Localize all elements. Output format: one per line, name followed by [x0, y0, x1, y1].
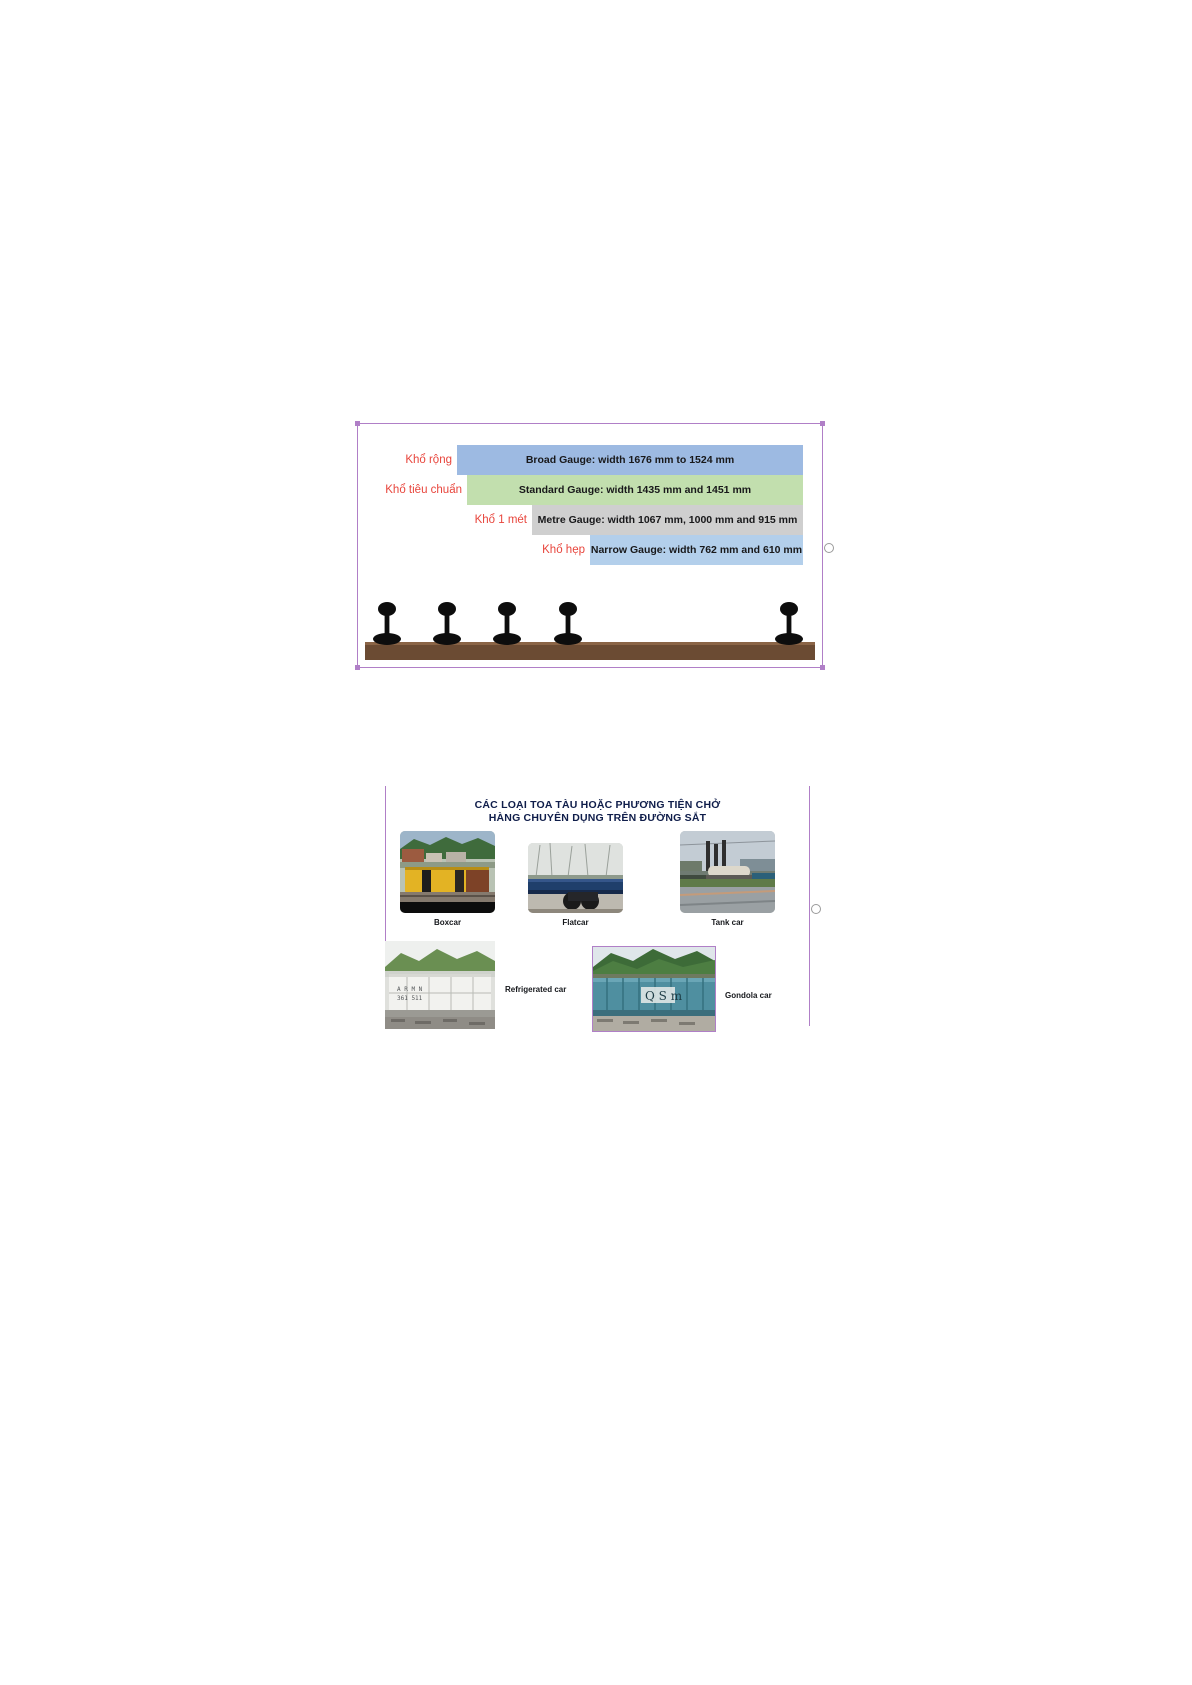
- cars-rotate-handle[interactable]: [811, 904, 821, 914]
- ballast-top-edge: [365, 642, 815, 645]
- resize-handle-bottom-right[interactable]: [820, 665, 825, 670]
- gauge-vn-label-metre: Khổ 1 mét: [357, 514, 532, 526]
- gauge-bar-metre: Metre Gauge: width 1067 mm, 1000 mm and …: [532, 505, 803, 535]
- car-cell-tankcar[interactable]: Tank car: [680, 831, 775, 927]
- gauge-vn-label-broad: Khổ rộng: [357, 454, 457, 466]
- refrigerated-car-photo: A R M N 361 511: [385, 941, 495, 1029]
- car-label-tankcar: Tank car: [680, 918, 775, 927]
- freight-car-types-figure[interactable]: CÁC LOẠI TOA TÀU HOẶC PHƯƠNG TIỆN CHỞ HÀ…: [385, 786, 810, 1026]
- rail-profile-4: [554, 602, 582, 645]
- gauge-row-broad[interactable]: Khổ rộng Broad Gauge: width 1676 mm to 1…: [357, 445, 823, 475]
- gauge-vn-label-narrow: Khổ hẹp: [357, 544, 590, 556]
- resize-handle-bottom-left[interactable]: [355, 665, 360, 670]
- resize-handle-top-right[interactable]: [820, 421, 825, 426]
- car-cell-refrigerated[interactable]: A R M N 361 511: [385, 941, 495, 1029]
- gauge-vn-label-standard: Khổ tiêu chuẩn: [357, 484, 467, 496]
- svg-text:361 511: 361 511: [397, 995, 423, 1002]
- flatcar-photo: [528, 843, 623, 913]
- car-cell-boxcar[interactable]: Boxcar: [400, 831, 495, 927]
- gauge-bar-narrow: Narrow Gauge: width 762 mm and 610 mm: [590, 535, 803, 565]
- cars-row-1: Boxcar: [385, 831, 810, 937]
- selection-border-bottom: [357, 667, 823, 668]
- car-label-gondola: Gondola car: [725, 991, 772, 1000]
- cars-row-2: A R M N 361 511 Refrigerated car: [385, 941, 810, 1037]
- car-label-refrigerated: Refrigerated car: [505, 985, 566, 994]
- rail-profile-3: [493, 602, 521, 645]
- car-cell-flatcar[interactable]: Flatcar: [528, 843, 623, 927]
- gauge-bar-standard: Standard Gauge: width 1435 mm and 1451 m…: [467, 475, 803, 505]
- boxcar-photo: [400, 831, 495, 913]
- svg-text:A R M N: A R M N: [397, 986, 423, 993]
- cars-title-line-1: CÁC LOẠI TOA TÀU HOẶC PHƯƠNG TIỆN CHỞ: [431, 799, 764, 812]
- track-cross-section-art: [365, 592, 815, 660]
- gauge-row-metre[interactable]: Khổ 1 mét Metre Gauge: width 1067 mm, 10…: [357, 505, 823, 535]
- selection-border-top: [357, 423, 823, 424]
- rail-profiles: [373, 602, 803, 645]
- cars-title-line-2: HÀNG CHUYÊN DỤNG TRÊN ĐƯỜNG SẮT: [431, 812, 764, 825]
- cars-figure-title: CÁC LOẠI TOA TÀU HOẶC PHƯƠNG TIỆN CHỞ HÀ…: [385, 786, 810, 825]
- rail-profile-1: [373, 602, 401, 645]
- gauge-row-list: Khổ rộng Broad Gauge: width 1676 mm to 1…: [357, 445, 823, 565]
- resize-handle-top-left[interactable]: [355, 421, 360, 426]
- tankcar-photo: [680, 831, 775, 913]
- car-cell-gondola[interactable]: Q S m: [593, 947, 715, 1031]
- rotate-handle[interactable]: [824, 543, 834, 553]
- car-label-flatcar: Flatcar: [528, 918, 623, 927]
- gondola-car-photo: Q S m: [593, 947, 715, 1031]
- rail-profile-2: [433, 602, 461, 645]
- gauge-row-standard[interactable]: Khổ tiêu chuẩn Standard Gauge: width 143…: [357, 475, 823, 505]
- rail-gauge-figure[interactable]: Khổ rộng Broad Gauge: width 1676 mm to 1…: [357, 423, 823, 668]
- rail-profile-5: [775, 602, 803, 645]
- svg-text:Q S m: Q S m: [645, 989, 683, 1003]
- gauge-bar-broad: Broad Gauge: width 1676 mm to 1524 mm: [457, 445, 803, 475]
- gauge-row-narrow[interactable]: Khổ hẹp Narrow Gauge: width 762 mm and 6…: [357, 535, 823, 565]
- car-label-boxcar: Boxcar: [400, 918, 495, 927]
